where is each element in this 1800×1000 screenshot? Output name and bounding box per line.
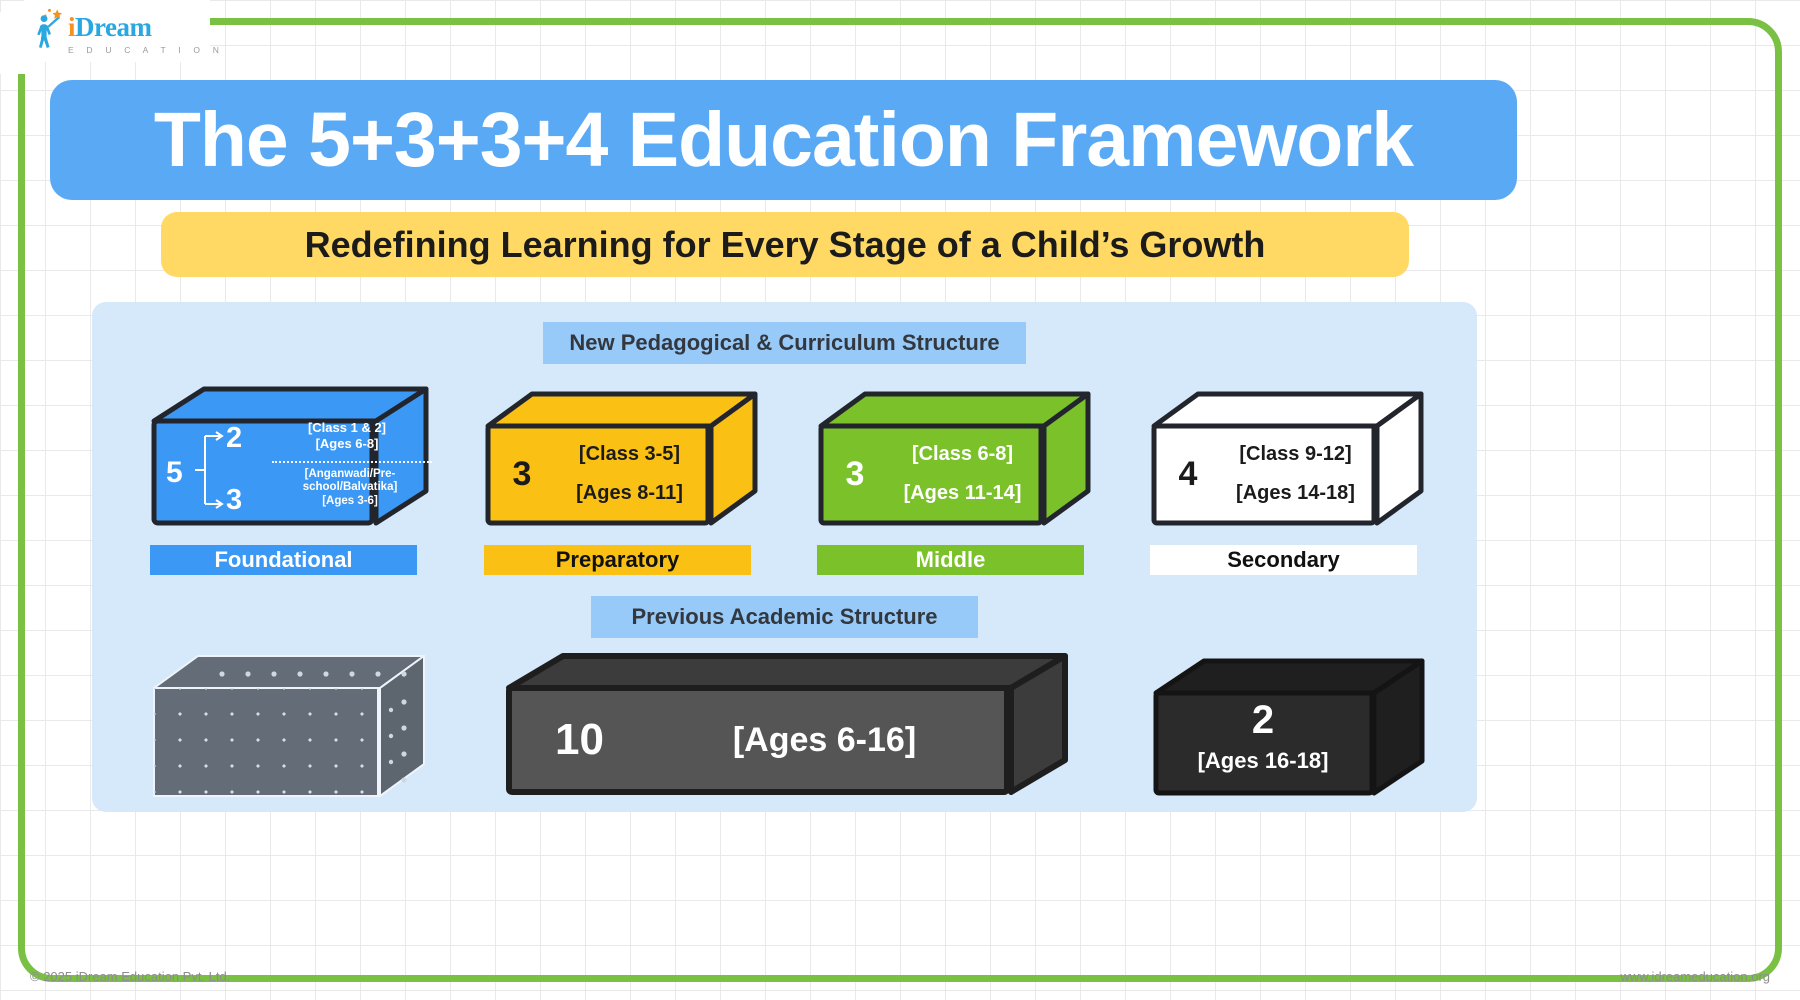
- foundational-segment-1-ages: [Ages 6-8]: [264, 436, 430, 452]
- secondary-box-content: 4 [Class 9-12] [Ages 14-18]: [1163, 428, 1378, 520]
- stage-label-secondary[interactable]: Secondary: [1150, 545, 1417, 575]
- foundational-segment-2-ages: [Ages 3-6]: [264, 495, 436, 508]
- foundational-box-content: 5 2 3 [Class 1 & 2] [Ages 6-8] [Anganwad…: [160, 420, 440, 525]
- student-star-icon: [34, 6, 64, 52]
- secondary-classes: [Class 9-12]: [1239, 442, 1351, 468]
- section-header-new-structure: New Pedagogical & Curriculum Structure: [543, 322, 1026, 364]
- brand-logo-subtitle: E D U C A T I O N: [68, 45, 224, 55]
- stage-label-foundational[interactable]: Foundational: [150, 545, 417, 575]
- middle-ages: [Ages 11-14]: [904, 481, 1022, 507]
- foundational-divider: [272, 461, 432, 463]
- section-header-previous-structure: Previous Academic Structure: [591, 596, 978, 638]
- middle-classes: [Class 6-8]: [912, 442, 1013, 468]
- foundational-segment-2-info: [Anganwadi/Pre-school/Balvatika] [Ages 3…: [264, 468, 436, 508]
- brand-logo-primary: i: [68, 12, 75, 42]
- brand-logo[interactable]: iDream E D U C A T I O N: [34, 6, 224, 55]
- foundational-total-years: 5: [166, 458, 183, 488]
- footer-copyright: © 2025 iDream Education Pvt. Ltd.: [30, 969, 230, 984]
- foundational-segment-2-classes: [Anganwadi/Pre-school/Balvatika]: [264, 468, 436, 495]
- middle-box-content: 3 [Class 6-8] [Ages 11-14]: [830, 428, 1045, 520]
- previous-higher-secondary-ages: [Ages 16-18]: [1158, 748, 1368, 774]
- previous-higher-secondary-years: 2: [1158, 700, 1368, 740]
- foundational-segment-1-classes: [Class 1 & 2]: [264, 420, 430, 436]
- footer-website[interactable]: www.idreameducation.org: [1620, 969, 1770, 984]
- previous-school-ages: [Ages 6-16]: [647, 721, 1002, 760]
- foundational-segment-2-years: 3: [226, 486, 242, 515]
- stage-label-preparatory[interactable]: Preparatory: [484, 545, 751, 575]
- foundational-segment-1-years: 2: [226, 424, 242, 453]
- previous-box-pre-primary-pattern: [154, 688, 378, 796]
- foundational-segment-1-info: [Class 1 & 2] [Ages 6-8]: [264, 420, 430, 451]
- stage-label-middle[interactable]: Middle: [817, 545, 1084, 575]
- brand-logo-secondary: Dream: [75, 12, 151, 42]
- middle-total-years: 3: [830, 457, 880, 491]
- preparatory-total-years: 3: [497, 457, 547, 491]
- secondary-total-years: 4: [1163, 457, 1213, 491]
- page-subtitle-banner: Redefining Learning for Every Stage of a…: [161, 212, 1409, 277]
- previous-school-content: 10 [Ages 6-16]: [512, 690, 1002, 790]
- secondary-ages: [Ages 14-18]: [1236, 481, 1355, 507]
- page-subtitle: Redefining Learning for Every Stage of a…: [305, 224, 1266, 266]
- page-title-banner: The 5+3+3+4 Education Framework: [50, 80, 1517, 200]
- page-title: The 5+3+3+4 Education Framework: [154, 96, 1413, 185]
- brand-wordmark: iDream E D U C A T I O N: [68, 14, 224, 55]
- previous-school-years: 10: [512, 715, 647, 765]
- previous-higher-secondary-content: 2 [Ages 16-18]: [1158, 700, 1368, 774]
- preparatory-ages: [Ages 8-11]: [576, 481, 683, 507]
- preparatory-box-content: 3 [Class 3-5] [Ages 8-11]: [497, 428, 712, 520]
- preparatory-classes: [Class 3-5]: [579, 442, 680, 468]
